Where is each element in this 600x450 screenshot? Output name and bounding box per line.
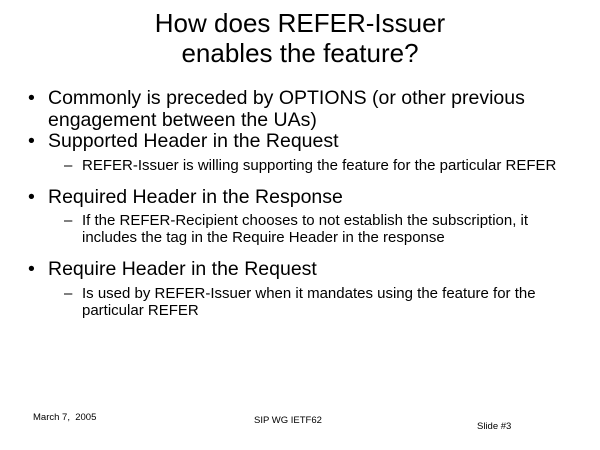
- sub-bullet-text: Is used by REFER-Issuer when it mandates…: [82, 285, 576, 319]
- footer-slide-number: Slide #3: [477, 421, 511, 433]
- bullet-marker-icon: •: [28, 88, 48, 110]
- bullet-text: Required Header in the Response: [48, 187, 576, 209]
- bullet-marker-icon: •: [28, 259, 48, 281]
- sub-bullet-item: – REFER-Issuer is willing supporting the…: [28, 157, 576, 174]
- footer-meeting-label: SIP WG IETF62: [254, 415, 322, 427]
- bullet-item: • Commonly is preceded by OPTIONS (or ot…: [28, 88, 576, 131]
- footer-date: March 7, 2005: [33, 412, 96, 424]
- bullet-text: Commonly is preceded by OPTIONS (or othe…: [48, 88, 576, 131]
- slide-footer: March 7, 2005 SIP WG IETF62 Slide #3: [0, 408, 600, 432]
- sub-bullet-item: – If the REFER-Recipient chooses to not …: [28, 212, 576, 246]
- bullet-text: Require Header in the Request: [48, 259, 576, 281]
- dash-marker-icon: –: [64, 285, 82, 302]
- bullet-marker-icon: •: [28, 131, 48, 153]
- bullet-item: • Supported Header in the Request: [28, 131, 576, 153]
- bullet-text: Supported Header in the Request: [48, 131, 576, 153]
- bullet-marker-icon: •: [28, 187, 48, 209]
- bullet-item: • Required Header in the Response: [28, 187, 576, 209]
- bullet-item: • Require Header in the Request: [28, 259, 576, 281]
- sub-bullet-text: If the REFER-Recipient chooses to not es…: [82, 212, 576, 246]
- dash-marker-icon: –: [64, 157, 82, 174]
- presentation-slide: How does REFER-Issuer enables the featur…: [0, 0, 600, 450]
- sub-bullet-text: REFER-Issuer is willing supporting the f…: [82, 157, 576, 174]
- sub-bullet-item: – Is used by REFER-Issuer when it mandat…: [28, 285, 576, 319]
- slide-body: • Commonly is preceded by OPTIONS (or ot…: [28, 88, 576, 323]
- slide-title: How does REFER-Issuer enables the featur…: [30, 8, 570, 68]
- dash-marker-icon: –: [64, 212, 82, 229]
